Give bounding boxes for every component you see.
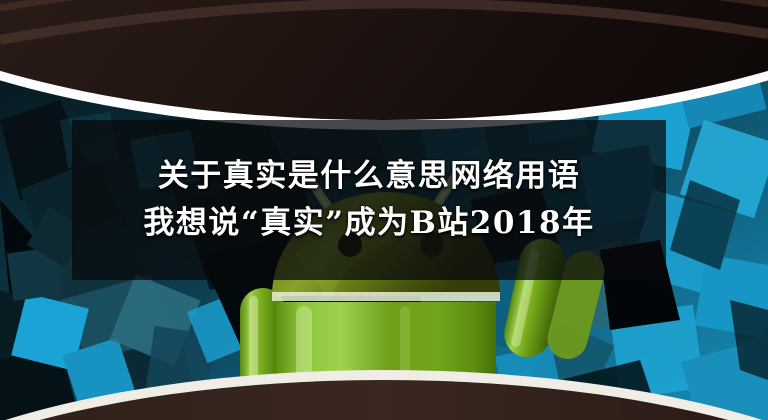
caption-overlay-band: 关于真实是什么意思网络用语 我想说“真实”成为B站2018年: [72, 120, 666, 280]
caption-line-2: 我想说“真实”成为B站2018年: [143, 205, 594, 242]
thumbnail-image: 关于真实是什么意思网络用语 我想说“真实”成为B站2018年: [0, 0, 768, 420]
caption-line-1: 关于真实是什么意思网络用语: [158, 158, 581, 195]
body: [276, 302, 496, 420]
